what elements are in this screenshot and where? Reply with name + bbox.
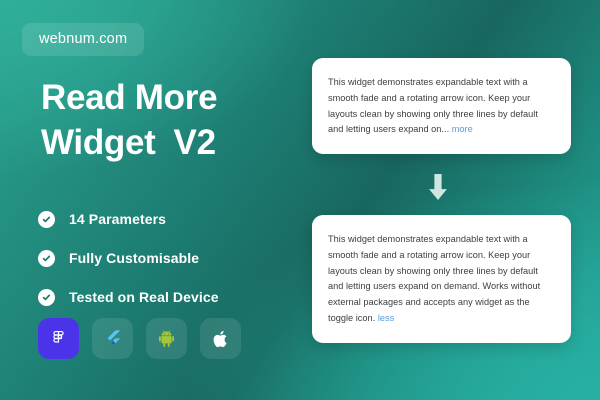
feature-item: Fully Customisable <box>38 244 219 272</box>
feature-item: 14 Parameters <box>38 205 219 233</box>
brand-badge: webnum.com <box>22 23 144 56</box>
right-preview-column: This widget demonstrates expandable text… <box>300 0 600 400</box>
feature-list: 14 Parameters Fully Customisable Tested … <box>38 205 219 322</box>
feature-label: 14 Parameters <box>69 211 166 227</box>
feature-label: Fully Customisable <box>69 250 199 266</box>
page-title: Read More WidgetV2 <box>41 76 291 166</box>
page-title-widget-word: Widget <box>41 123 156 162</box>
tech-tile-android <box>146 318 187 359</box>
read-less-toggle[interactable]: less <box>378 313 394 323</box>
check-circle-icon <box>38 289 55 306</box>
read-more-card-collapsed: This widget demonstrates expandable text… <box>312 58 571 154</box>
tech-tile-flutter <box>92 318 133 359</box>
read-more-toggle[interactable]: more <box>452 124 473 134</box>
android-icon <box>156 328 177 349</box>
card-expanded-body: This widget demonstrates expandable text… <box>328 234 540 323</box>
arrow-down-icon <box>421 170 455 204</box>
check-circle-icon <box>38 211 55 228</box>
feature-item: Tested on Real Device <box>38 283 219 311</box>
flutter-icon <box>103 329 123 349</box>
page-title-line-1: Read More <box>41 76 291 121</box>
page-title-line-2: WidgetV2 <box>41 121 291 166</box>
check-circle-icon <box>38 250 55 267</box>
card-collapsed-body: This widget demonstrates expandable text… <box>328 77 538 134</box>
apple-icon <box>211 329 231 349</box>
figma-icon <box>49 329 68 348</box>
card-collapsed-text: This widget demonstrates expandable text… <box>328 75 555 138</box>
feature-label: Tested on Real Device <box>69 289 219 305</box>
tech-tile-figma <box>38 318 79 359</box>
left-content-column: webnum.com Read More WidgetV2 14 Paramet… <box>0 0 300 400</box>
read-more-card-expanded: This widget demonstrates expandable text… <box>312 215 571 343</box>
card-expanded-text: This widget demonstrates expandable text… <box>328 232 555 327</box>
promo-poster: webnum.com Read More WidgetV2 14 Paramet… <box>0 0 600 400</box>
tech-stack-row <box>38 318 241 359</box>
tech-tile-apple <box>200 318 241 359</box>
page-title-version: V2 <box>174 123 216 162</box>
